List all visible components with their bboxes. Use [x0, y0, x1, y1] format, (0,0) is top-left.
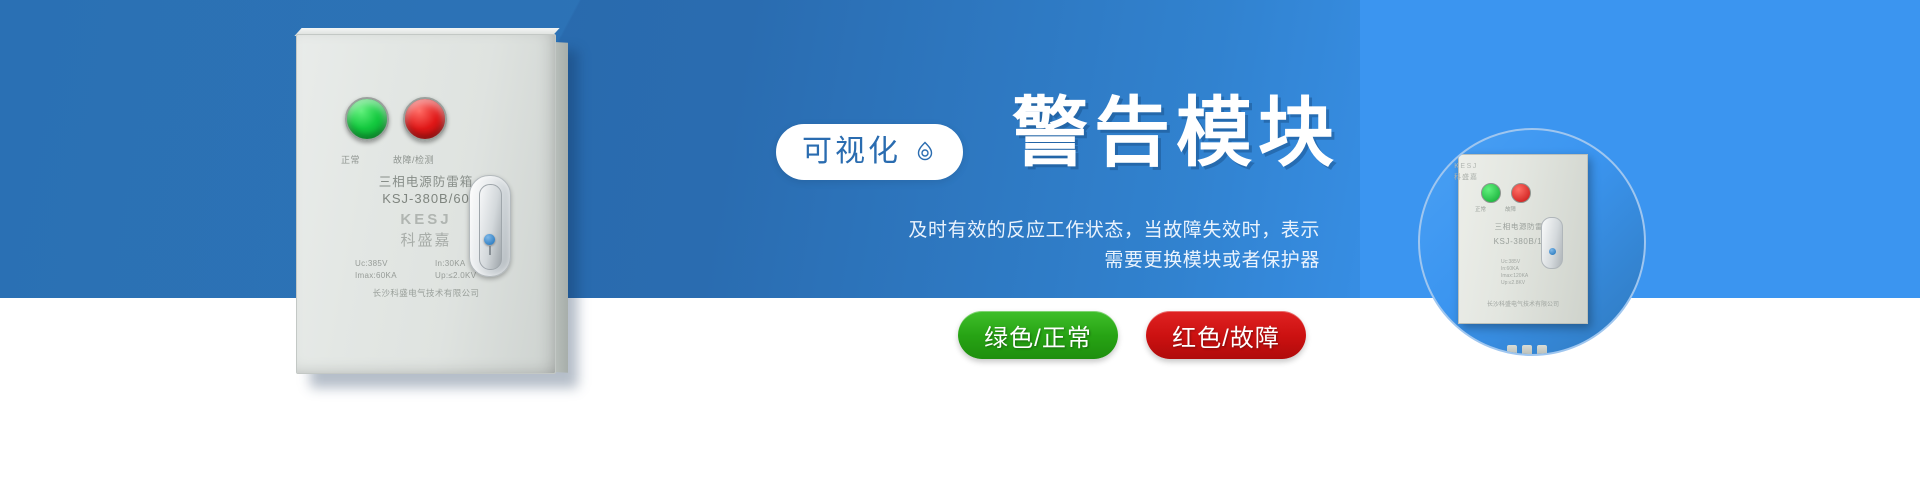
subtitle-line-2: 需要更换模块或者保护器 [860, 246, 1320, 276]
product-photo: 正常 故障/检测 三相电源防雷箱 KSJ-380B/60 KESJ 科盛嘉 Uc… [296, 34, 566, 374]
spec-uc: Uc:385V [355, 259, 417, 268]
subtitle: 及时有效的反应工作状态，当故障失效时，表示 需要更换模块或者保护器 [860, 216, 1320, 276]
product-enclosure: 正常 故障/检测 三相电源防雷箱 KSJ-380B/60 KESJ 科盛嘉 Uc… [296, 34, 556, 374]
inset-cable-gland [1537, 345, 1547, 356]
inset-product-enclosure: KESJ 科盛嘉 正常 故障 三相电源防雷箱 KSJ-380B/120 Uc:3… [1458, 154, 1588, 324]
inset-logo: KESJ [1421, 163, 1511, 170]
subtitle-line-1: 及时有效的反应工作状态，当故障失效时，表示 [860, 216, 1320, 246]
inset-cable-glands [1507, 345, 1547, 356]
inset-brand: 科盛嘉 [1421, 172, 1511, 182]
rocker-switch-indicator [484, 234, 495, 245]
inset-model: KSJ-380B/120 [1459, 237, 1587, 246]
rocker-switch-mark [489, 246, 491, 255]
inset-title: 三相电源防雷箱 [1459, 221, 1587, 232]
promo-banner: 正常 故障/检测 三相电源防雷箱 KSJ-380B/60 KESJ 科盛嘉 Uc… [0, 0, 1920, 500]
visualization-badge: 可视化 [776, 124, 963, 180]
nameplate-spec-row: Imax:60KA Up:≤2.0KV [297, 271, 555, 280]
nameplate-title: 三相电源防雷箱 [297, 171, 555, 190]
product-inset-circle: KESJ 科盛嘉 正常 故障 三相电源防雷箱 KSJ-380B/120 Uc:3… [1418, 128, 1646, 356]
inset-red-indicator-label: 故障 [1505, 205, 1516, 213]
nameplate-model: KSJ-380B/60 [297, 191, 555, 206]
product-nameplate: 三相电源防雷箱 KSJ-380B/60 KESJ 科盛嘉 Uc:385V In:… [297, 35, 555, 373]
spec-imax: Imax:60KA [355, 271, 417, 280]
status-badge-normal: 绿色/正常 [958, 311, 1118, 359]
visualization-badge-label: 可视化 [802, 137, 901, 167]
inset-red-indicator-light [1511, 183, 1531, 203]
rocker-switch [469, 175, 511, 277]
nameplate-logo: KESJ [297, 211, 555, 228]
inset-rocker-switch [1541, 217, 1563, 269]
rocker-switch-body [479, 184, 502, 270]
page-title: 警告模块 [1012, 96, 1340, 172]
inset-green-indicator-label: 正常 [1475, 205, 1486, 213]
inset-cable-gland [1522, 345, 1532, 356]
nameplate-company: 长沙科盛电气技术有限公司 [297, 287, 555, 299]
location-pin-icon [913, 140, 937, 164]
inset-specs: Uc:385V In:60KA Imax:120KA Up:≤2.8KV [1501, 259, 1528, 287]
status-badge-group: 绿色/正常 红色/故障 [958, 311, 1306, 359]
product-side-panel [554, 42, 568, 373]
inset-company: 长沙科盛电气技术有限公司 [1459, 299, 1587, 308]
inset-green-indicator-light [1481, 183, 1501, 203]
status-badge-fault: 红色/故障 [1146, 311, 1306, 359]
nameplate-brand: 科盛嘉 [297, 229, 555, 250]
nameplate-spec-row: Uc:385V In:30KA [297, 259, 555, 268]
inset-rocker-switch-indicator [1549, 248, 1556, 255]
